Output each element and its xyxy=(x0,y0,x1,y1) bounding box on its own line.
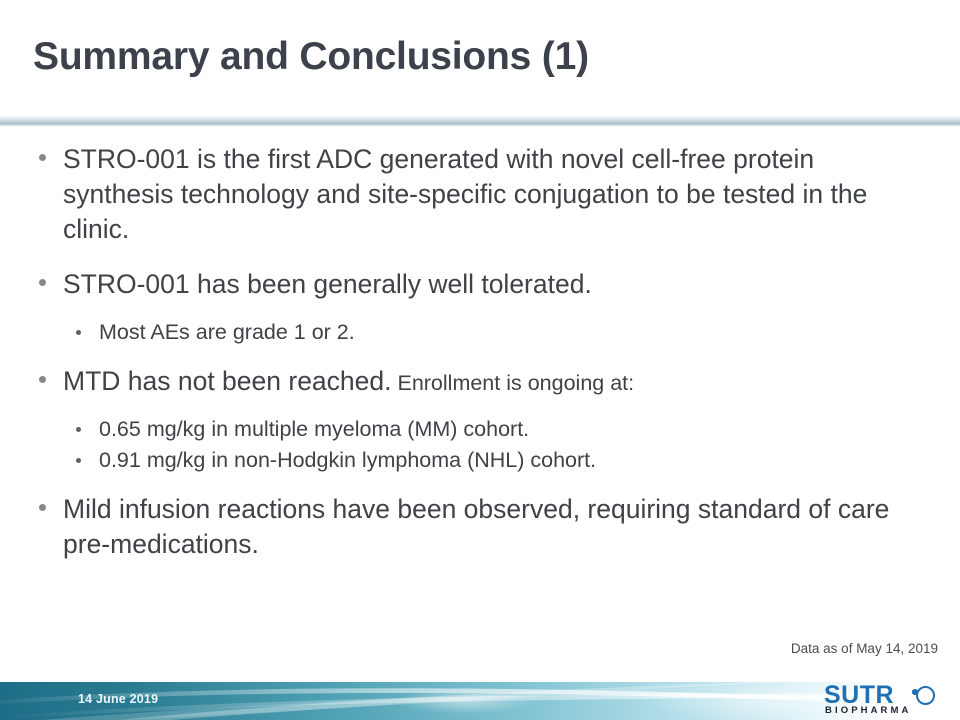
list-item-label: 0.65 mg/kg in multiple myeloma (MM) coho… xyxy=(99,417,529,441)
list-item: STRO-001 is the first ADC generated with… xyxy=(34,142,924,247)
spacer xyxy=(34,405,924,416)
bullet-dot-icon xyxy=(39,154,46,161)
logo-circle-o-icon xyxy=(916,686,935,705)
bullet-dot-icon xyxy=(76,330,81,335)
list-item-label: STRO-001 has been generally well tolerat… xyxy=(63,269,592,299)
data-as-of-note: Data as of May 14, 2019 xyxy=(791,641,938,656)
spacer xyxy=(34,350,924,364)
bullet-list: STRO-001 is the first ADC generated with… xyxy=(34,142,924,568)
bullet-dot-icon xyxy=(76,427,81,432)
list-item: 0.91 mg/kg in non-Hodgkin lymphoma (NHL)… xyxy=(34,447,924,475)
list-item-label: 0.91 mg/kg in non-Hodgkin lymphoma (NHL)… xyxy=(99,448,596,472)
list-item: Most AEs are grade 1 or 2. xyxy=(34,319,924,347)
list-item-label: Mild infusion reactions have been observ… xyxy=(63,494,889,559)
title-divider xyxy=(0,114,960,127)
list-item: MTD has not been reached. Enrollment is … xyxy=(34,364,924,399)
list-item: 0.65 mg/kg in multiple myeloma (MM) coho… xyxy=(34,416,924,444)
sutro-biopharma-logo: SUTR BIOPHARMA xyxy=(824,684,948,717)
slide: Summary and Conclusions (1) STRO-001 is … xyxy=(0,0,960,720)
footer-date: 14 June 2019 xyxy=(78,692,158,706)
logo-subtitle: BIOPHARMA xyxy=(825,706,911,716)
page-title: Summary and Conclusions (1) xyxy=(33,36,913,79)
spacer xyxy=(34,478,924,492)
list-item-label: MTD has not been reached. xyxy=(63,366,392,396)
spacer xyxy=(34,253,924,267)
list-item: STRO-001 has been generally well tolerat… xyxy=(34,267,924,302)
list-item-label: Most AEs are grade 1 or 2. xyxy=(99,320,355,344)
logo-dot-icon xyxy=(912,689,918,695)
list-item: Mild infusion reactions have been observ… xyxy=(34,492,924,562)
spacer xyxy=(34,308,924,319)
bullet-dot-icon xyxy=(76,458,81,463)
bullet-dot-icon xyxy=(39,376,46,383)
list-item-sublabel: Enrollment is ongoing at: xyxy=(392,371,635,395)
bullet-dot-icon xyxy=(39,504,46,511)
bullet-dot-icon xyxy=(39,279,46,286)
list-item-label: STRO-001 is the first ADC generated with… xyxy=(63,144,867,244)
